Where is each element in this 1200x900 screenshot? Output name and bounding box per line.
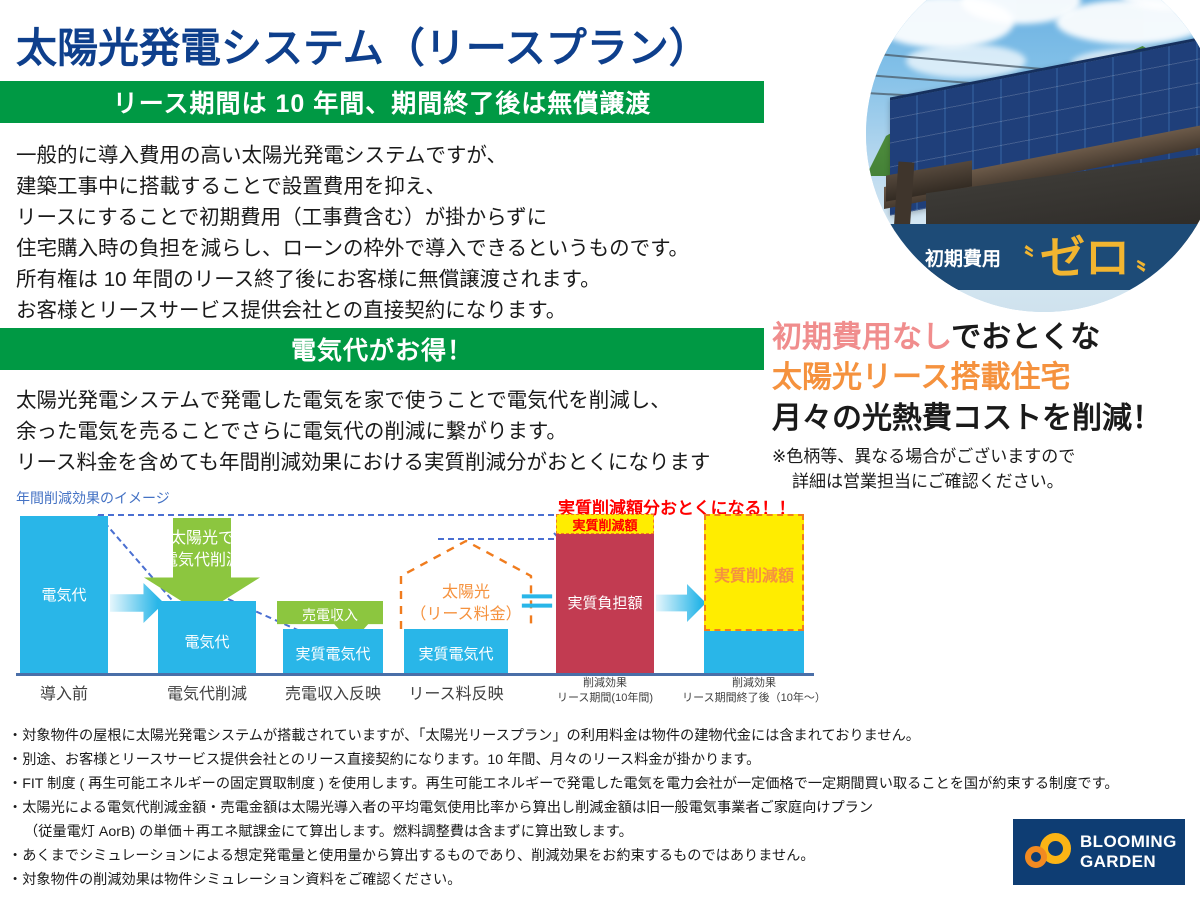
transition-arrow-icon <box>656 584 706 622</box>
banner1-label: リース期間は 10 年間、期間終了後は無償譲渡 <box>113 84 651 120</box>
footnote-line: ・別途、お客様とリースサービス提供会社とのリース直接契約になります。10 年間、… <box>8 748 1188 772</box>
bar-label: 実質電気代 <box>404 643 508 664</box>
brand-name-line-1: BLOOMING <box>1080 832 1177 852</box>
promo-line-3: 月々の光熱費コストを削減！ <box>772 398 1196 440</box>
category-label-line-1: 削減効果 <box>540 676 670 691</box>
lease-text-line-1: 太陽光 <box>398 582 534 604</box>
chart-category-label: 削減効果 リース期間終了後（10年～） <box>668 676 840 706</box>
bar-actual-burden: 実質負担額 <box>556 534 654 673</box>
page-title: 太陽光発電システム（リースプラン） <box>16 14 710 74</box>
category-label-line-2: リース期間終了後（10年～） <box>668 691 840 706</box>
footnote-line: ・太陽光による電気代削減金額・売電金額は太陽光導入者の平均電気使用比率から算出し… <box>8 796 1188 820</box>
zero-badge-word: ゼロ <box>1040 235 1130 280</box>
chart-title: 年間削減効果のイメージ <box>16 488 170 508</box>
section-banner-electricity-savings: 電気代がお得！ <box>0 328 764 370</box>
lease-house-text: 太陽光 （リース料金） <box>398 582 534 626</box>
promo-block: 初期費用なしでおとくな 太陽光リース搭載住宅 月々の光熱費コストを削減！ ※色柄… <box>772 318 1196 494</box>
savings-big-label: 実質削減額 <box>704 562 804 586</box>
bar-electricity-after-lease-end <box>704 631 804 673</box>
ring-small-icon <box>1025 846 1047 868</box>
promo-line-1: 初期費用なしでおとくな <box>772 318 1196 358</box>
sell-income-label: 売電収入 <box>302 607 358 623</box>
lease-description-line: 所有権は 10 年間のリース終了後にお客様に無償譲渡されます。 <box>16 264 689 295</box>
bar-label: 電気代 <box>158 631 256 652</box>
chart-category-label: 導入前 <box>20 680 108 704</box>
bar-label: 実質負担額 <box>556 592 654 613</box>
chart-category-label: 電気代削減 <box>152 680 262 704</box>
brand-logo: BLOOMING GARDEN <box>1013 819 1185 885</box>
savings-description-line: 余った電気を売ることでさらに電気代の削減に繋がります。 <box>16 416 710 447</box>
promo-disclaimer-line-1: ※色柄等、異なる場合がございますので <box>772 447 1075 466</box>
category-label-line-2: リース期間(10年間) <box>540 691 670 706</box>
promo-disclaimer: ※色柄等、異なる場合がございますので 詳細は営業担当にご確認ください。 <box>772 444 1196 494</box>
promo-disclaimer-line-2: 詳細は営業担当にご確認ください。 <box>772 469 1196 494</box>
chart-category-label: 削減効果 リース期間(10年間) <box>540 676 670 706</box>
banner2-label: 電気代がお得！ <box>291 331 473 367</box>
blooming-garden-rings-icon <box>1025 832 1071 872</box>
solar-reduction-arrow-icon: 太陽光で 電気代削減 <box>144 518 260 614</box>
quote-mark-left-icon: 〝 <box>1007 238 1034 277</box>
chart-category-label: 売電収入反映 <box>275 680 391 704</box>
bar-actual-electricity-after-sell: 実質電気代 <box>283 629 383 673</box>
bar-electricity-before: 電気代 <box>20 516 108 673</box>
poster-root: 太陽光発電システム（リースプラン） リース期間は 10 年間、期間終了後は無償譲… <box>0 0 1200 900</box>
bar-label: 電気代 <box>20 584 108 605</box>
chart-category-label: リース料反映 <box>400 680 512 704</box>
bar-label: 実質電気代 <box>283 643 383 664</box>
lease-text-line-2: （リース料金） <box>398 604 534 626</box>
footnote-line: ・あくまでシミュレーションによる想定発電量と使用量から算出するものであり、削減効… <box>8 844 1188 868</box>
lease-description-line: リースにすることで初期費用（工事費含む）が掛からずに <box>16 202 689 233</box>
brand-logo-text: BLOOMING GARDEN <box>1080 832 1177 872</box>
rooftop-solar-photo: 初期費用 〝 ゼロ 〟 <box>866 0 1200 312</box>
lease-description-line: 住宅購入時の負担を減らし、ローンの枠外で導入できるというものです。 <box>16 233 689 264</box>
savings-amount-tag: 実質削減額 <box>556 514 654 534</box>
zero-badge-label: 初期費用 <box>925 244 1001 271</box>
transition-arrow-icon <box>110 583 164 623</box>
bar-electricity-reduced: 電気代 <box>158 601 256 673</box>
solar-arrow-line-2: 電気代削減 <box>144 550 260 572</box>
lease-description-block: 一般的に導入費用の高い太陽光発電システムですが、 建築工事中に搭載することで設置… <box>16 140 689 326</box>
section-banner-lease-period: リース期間は 10 年間、期間終了後は無償譲渡 <box>0 81 764 123</box>
brand-name-line-2: GARDEN <box>1080 852 1177 872</box>
guide-line-top <box>98 514 554 516</box>
footnote-line: ・FIT 制度 ( 再生可能エネルギーの固定買取制度 ) を使用します。再生可能… <box>8 772 1188 796</box>
footnotes-block: ・対象物件の屋根に太陽光発電システムが搭載されていますが、「太陽光リースプラン」… <box>8 724 1188 892</box>
equals-sign-icon: ＝ <box>517 583 557 623</box>
promo-line-2: 太陽光リース搭載住宅 <box>772 358 1196 398</box>
promo-line-1-suffix: でおとくな <box>951 321 1100 354</box>
footnote-line: （従量電灯 AorB) の単価＋再エネ賦課金にて算出します。燃料調整費は含まずに… <box>8 820 1188 844</box>
savings-description-block: 太陽光発電システムで発電した電気を家で使うことで電気代を削減し、 余った電気を売… <box>16 385 710 478</box>
category-label-line-1: 削減効果 <box>668 676 840 691</box>
savings-description-line: リース料金を含めても年間削減効果における実質削減分がおとくになります <box>16 447 710 478</box>
quote-mark-right-icon: 〟 <box>1136 238 1163 277</box>
footnote-line: ・対象物件の屋根に太陽光発電システムが搭載されていますが、「太陽光リースプラン」… <box>8 724 1188 748</box>
savings-description-line: 太陽光発電システムで発電した電気を家で使うことで電気代を削減し、 <box>16 385 710 416</box>
lease-description-line: 一般的に導入費用の高い太陽光発電システムですが、 <box>16 140 689 171</box>
footnote-line: ・対象物件の削減効果は物件シミュレーション資料をご確認ください。 <box>8 868 1188 892</box>
footnote-line-indent: （従量電灯 AorB) の単価＋再エネ賦課金にて算出します。燃料調整費は含まずに… <box>8 820 633 844</box>
lease-description-line: お客様とリースサービス提供会社との直接契約になります。 <box>16 295 689 326</box>
zero-cost-badge: 初期費用 〝 ゼロ 〟 <box>866 224 1200 290</box>
lease-description-line: 建築工事中に搭載することで設置費用を抑え、 <box>16 171 689 202</box>
solar-arrow-line-1: 太陽光で <box>144 528 260 550</box>
annual-savings-chart: 年間削減効果のイメージ 電気代 太陽光で 電気代削減 電気代 売電収入 実質電気… <box>0 488 830 713</box>
promo-highlight-no-initial-cost: 初期費用なし <box>772 321 951 354</box>
bar-actual-electricity-with-lease: 実質電気代 <box>404 629 508 673</box>
